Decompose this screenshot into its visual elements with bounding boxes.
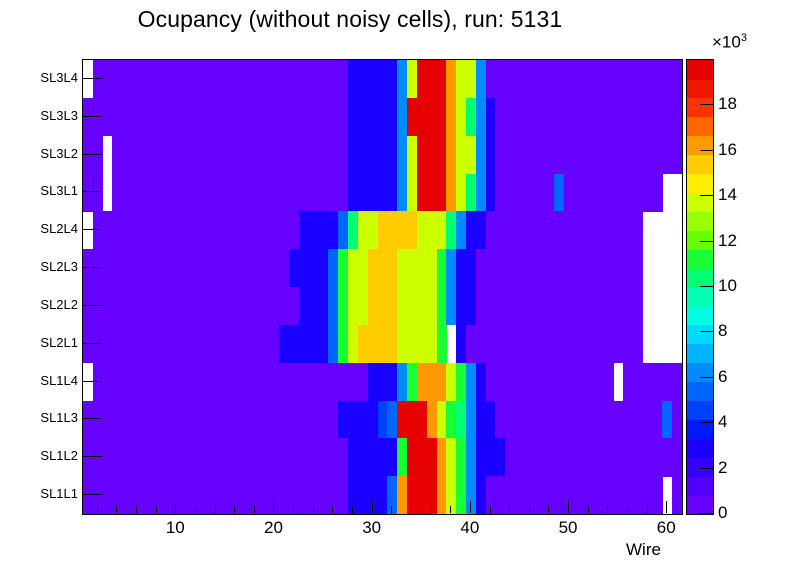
y-axis-label: SL1L2 — [22, 449, 78, 462]
x-axis-minor-tick — [450, 506, 451, 513]
x-axis-minor-tick — [529, 506, 530, 513]
y-axis-tick — [82, 267, 102, 268]
y-axis-label: SL2L3 — [22, 260, 78, 273]
x-axis-tick-label: 10 — [150, 518, 200, 538]
y-axis-tick — [82, 418, 102, 419]
x-axis-minor-tick — [647, 506, 648, 513]
y-axis-tick — [82, 456, 102, 457]
y-axis-label: SL3L1 — [22, 184, 78, 197]
z-axis-tick — [700, 377, 714, 378]
x-axis-minor-tick — [254, 506, 255, 513]
z-axis-tick — [700, 468, 714, 469]
x-axis-minor-tick — [431, 506, 432, 513]
x-axis-tick-label: 40 — [445, 518, 495, 538]
z-axis-tick — [700, 286, 714, 287]
z-axis-tick-label: 10 — [718, 277, 737, 294]
root-canvas: Ocupancy (without noisy cells), run: 513… — [0, 0, 796, 572]
x-axis-major-tick — [666, 501, 667, 513]
y-axis-label: SL2L1 — [22, 336, 78, 349]
x-axis-minor-tick — [391, 506, 392, 513]
z-axis-tick — [700, 241, 714, 242]
y-axis-label: SL2L4 — [22, 222, 78, 235]
x-axis-ticks — [82, 59, 682, 513]
x-axis-major-tick — [273, 501, 274, 513]
x-axis-tick-label: 50 — [543, 518, 593, 538]
x-axis-minor-tick — [195, 506, 196, 513]
y-axis-tick — [82, 381, 102, 382]
y-axis-tick — [82, 494, 102, 495]
x-axis-tick-label: 20 — [248, 518, 298, 538]
x-axis-title: Wire — [626, 540, 661, 560]
y-axis-tick — [82, 343, 102, 344]
x-axis-major-tick — [372, 501, 373, 513]
z-axis-tick — [700, 150, 714, 151]
z-axis-tick-label: 6 — [718, 368, 727, 385]
x-axis-minor-tick — [352, 506, 353, 513]
y-axis-label: SL3L2 — [22, 147, 78, 160]
z-axis-tick-label: 0 — [718, 504, 727, 521]
y-axis-label: SL1L3 — [22, 411, 78, 424]
z-axis-tick-label: 4 — [718, 413, 727, 430]
z-axis-tick-label: 2 — [718, 459, 727, 476]
y-axis-tick — [82, 229, 102, 230]
z-axis-tick-label: 16 — [718, 141, 737, 158]
y-axis-tick — [82, 116, 102, 117]
x-axis-minor-tick — [293, 506, 294, 513]
x-axis-minor-tick — [509, 506, 510, 513]
z-axis-tick-label: 18 — [718, 95, 737, 112]
y-axis-labels: SL3L4SL3L3SL3L2SL3L1SL2L4SL2L3SL2L2SL2L1… — [0, 0, 78, 572]
z-axis-tick — [700, 195, 714, 196]
z-axis-tick — [700, 422, 714, 423]
x-axis-minor-tick — [490, 506, 491, 513]
x-axis-minor-tick — [215, 506, 216, 513]
y-axis-tick — [82, 305, 102, 306]
y-axis-label: SL3L3 — [22, 109, 78, 122]
page-title: Ocupancy (without noisy cells), run: 513… — [0, 6, 700, 33]
x-axis-minor-tick — [548, 506, 549, 513]
x-axis-minor-tick — [313, 506, 314, 513]
x-axis-minor-tick — [136, 506, 137, 513]
y-axis-label: SL1L4 — [22, 374, 78, 387]
y-axis-tick — [82, 78, 102, 79]
z-exponent-power: 3 — [741, 32, 747, 44]
z-axis-tick-label: 8 — [718, 322, 727, 339]
z-axis-tick — [700, 331, 714, 332]
y-axis-tick — [82, 154, 102, 155]
z-axis-tick-label: 14 — [718, 186, 737, 203]
x-axis-minor-tick — [607, 506, 608, 513]
x-axis-minor-tick — [156, 506, 157, 513]
x-axis-major-tick — [470, 501, 471, 513]
y-axis-label: SL1L1 — [22, 487, 78, 500]
x-axis-minor-tick — [627, 506, 628, 513]
x-axis-minor-tick — [116, 506, 117, 513]
x-axis-tick-label: 60 — [641, 518, 691, 538]
y-axis-label: SL3L4 — [22, 71, 78, 84]
z-axis-tick-label: 12 — [718, 232, 737, 249]
x-axis-minor-tick — [97, 506, 98, 513]
x-axis-minor-tick — [234, 506, 235, 513]
x-axis-minor-tick — [411, 506, 412, 513]
y-axis-tick — [82, 191, 102, 192]
x-axis-minor-tick — [588, 506, 589, 513]
z-axis-exponent: ×103 — [712, 32, 747, 53]
x-axis-major-tick — [175, 501, 176, 513]
z-axis-tick — [700, 104, 714, 105]
x-axis-minor-tick — [332, 506, 333, 513]
x-axis-tick-label: 30 — [347, 518, 397, 538]
z-axis-tick — [700, 513, 714, 514]
x-axis-major-tick — [568, 501, 569, 513]
z-exponent-base: ×10 — [712, 33, 741, 52]
y-axis-label: SL2L2 — [22, 298, 78, 311]
